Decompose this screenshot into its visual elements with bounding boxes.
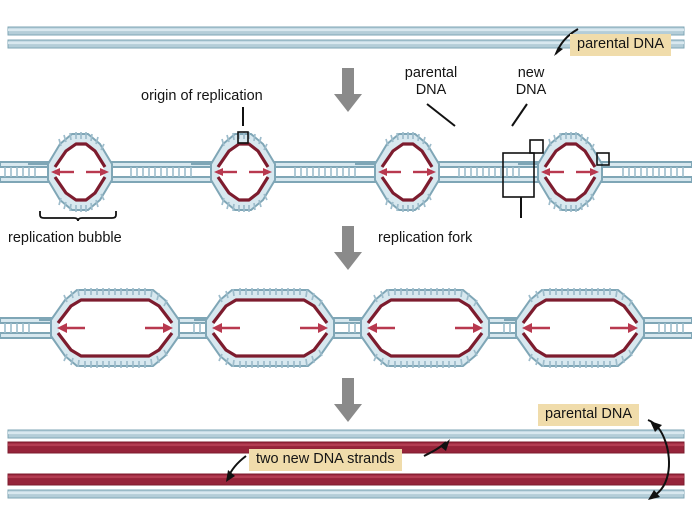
stage-early-replication <box>0 126 692 218</box>
label-replication-fork: replication fork <box>378 230 472 247</box>
parental-callout-leader-line <box>427 104 455 126</box>
early-replication-svg <box>0 126 692 218</box>
arrow-stage-1-to-2 <box>333 68 363 114</box>
label-parental-dna-bottom: parental DNA <box>538 404 639 426</box>
stage-two-daughter-molecules: parental DNA two new DNA strands <box>0 412 692 508</box>
replication-bubble-late-1 <box>39 288 179 368</box>
replication-bubble-2 <box>191 132 275 212</box>
replication-bubble-1 <box>28 132 112 212</box>
parental-dna-marker-box <box>530 140 543 153</box>
stage-late-replication <box>0 280 692 376</box>
new-callout-leader-line <box>512 104 527 126</box>
stage-2-annotations: replication bubble replication fork <box>0 218 692 280</box>
label-two-new-dna-strands: two new DNA strands <box>249 449 402 471</box>
late-replication-svg <box>0 280 692 376</box>
stage-parental-dna: parental DNA <box>0 0 692 62</box>
replication-bubble-3 <box>355 132 439 212</box>
label-parental-dna-top: parental DNA <box>570 34 671 56</box>
label-replication-bubble: replication bubble <box>8 230 122 247</box>
replication-bubble-late-2 <box>194 288 334 368</box>
daughter-molecule-2 <box>8 474 684 498</box>
arrow-stage-2-to-3 <box>333 226 363 272</box>
replication-bubble-late-4 <box>504 288 644 368</box>
stage-1-annotations: origin of replication parental DNA new D… <box>0 62 692 126</box>
replication-bubble-late-3 <box>349 288 489 368</box>
